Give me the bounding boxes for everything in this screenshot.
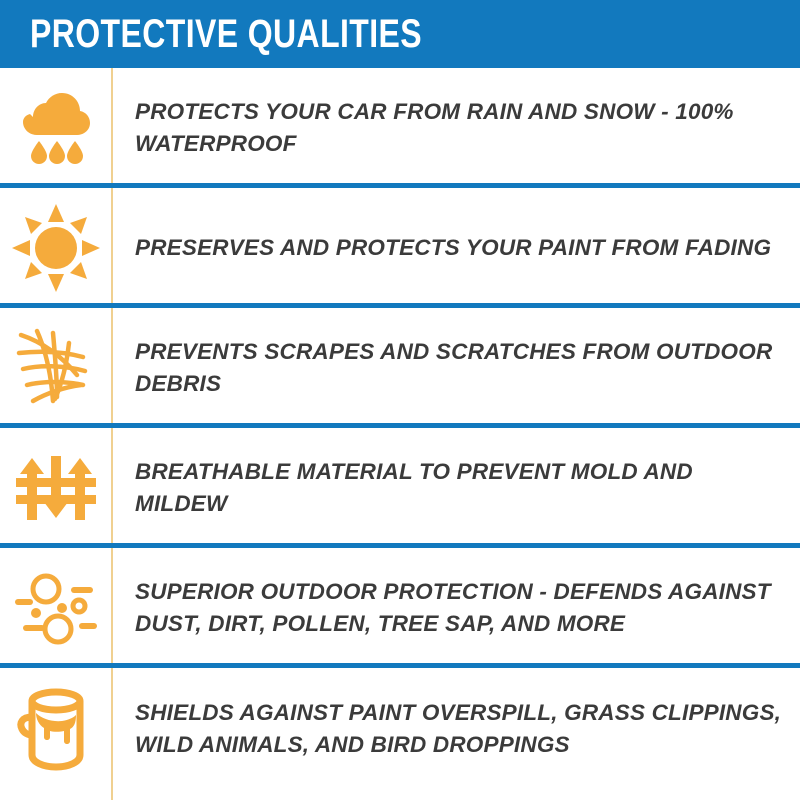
list-item: SHIELDS AGAINST PAINT OVERSPILL, GRASS C…	[0, 668, 800, 790]
text-cell: SUPERIOR OUTDOOR PROTECTION - DEFENDS AG…	[111, 576, 800, 640]
text-cell: PRESERVES AND PROTECTS YOUR PAINT FROM F…	[111, 232, 800, 264]
text-cell: BREATHABLE MATERIAL TO PREVENT MOLD AND …	[111, 456, 800, 520]
text-cell: SHIELDS AGAINST PAINT OVERSPILL, GRASS C…	[111, 697, 800, 761]
text-cell: PROTECTS YOUR CAR FROM RAIN AND SNOW - 1…	[111, 96, 800, 160]
row-divider	[0, 183, 800, 188]
list-item: PREVENTS SCRAPES AND SCRATCHES FROM OUTD…	[0, 308, 800, 428]
rain-cloud-icon	[13, 85, 99, 171]
dust-particles-icon	[11, 563, 101, 653]
icon-cell	[0, 548, 111, 668]
scratches-icon	[11, 323, 101, 413]
breathable-arrows-icon	[12, 444, 100, 532]
icon-cell	[0, 68, 111, 188]
list-item-label: BREATHABLE MATERIAL TO PREVENT MOLD AND …	[135, 456, 784, 520]
list-item: PRESERVES AND PROTECTS YOUR PAINT FROM F…	[0, 188, 800, 308]
icon-cell	[0, 308, 111, 428]
protective-qualities-infographic: PROTECTIVE QUALITIES PROTECTS YOUR CAR F…	[0, 0, 800, 800]
row-divider	[0, 663, 800, 668]
sun-icon	[10, 202, 102, 294]
list-item: PROTECTS YOUR CAR FROM RAIN AND SNOW - 1…	[0, 68, 800, 188]
page-title: PROTECTIVE QUALITIES	[30, 14, 422, 54]
row-divider	[0, 423, 800, 428]
list-item-label: SUPERIOR OUTDOOR PROTECTION - DEFENDS AG…	[135, 576, 784, 640]
list-item-label: PROTECTS YOUR CAR FROM RAIN AND SNOW - 1…	[135, 96, 784, 160]
icon-cell	[0, 669, 111, 789]
list-item: SUPERIOR OUTDOOR PROTECTION - DEFENDS AG…	[0, 548, 800, 668]
paint-bucket-icon	[12, 683, 100, 775]
text-cell: PREVENTS SCRAPES AND SCRATCHES FROM OUTD…	[111, 336, 800, 400]
row-divider	[0, 543, 800, 548]
vertical-separator-line	[111, 68, 113, 800]
feature-list: PROTECTS YOUR CAR FROM RAIN AND SNOW - 1…	[0, 68, 800, 800]
list-item-label: SHIELDS AGAINST PAINT OVERSPILL, GRASS C…	[135, 697, 784, 761]
list-item: BREATHABLE MATERIAL TO PREVENT MOLD AND …	[0, 428, 800, 548]
list-item-label: PRESERVES AND PROTECTS YOUR PAINT FROM F…	[135, 232, 784, 264]
header-banner: PROTECTIVE QUALITIES	[0, 0, 800, 68]
list-item-label: PREVENTS SCRAPES AND SCRATCHES FROM OUTD…	[135, 336, 784, 400]
icon-cell	[0, 188, 111, 308]
row-divider	[0, 303, 800, 308]
icon-cell	[0, 428, 111, 548]
